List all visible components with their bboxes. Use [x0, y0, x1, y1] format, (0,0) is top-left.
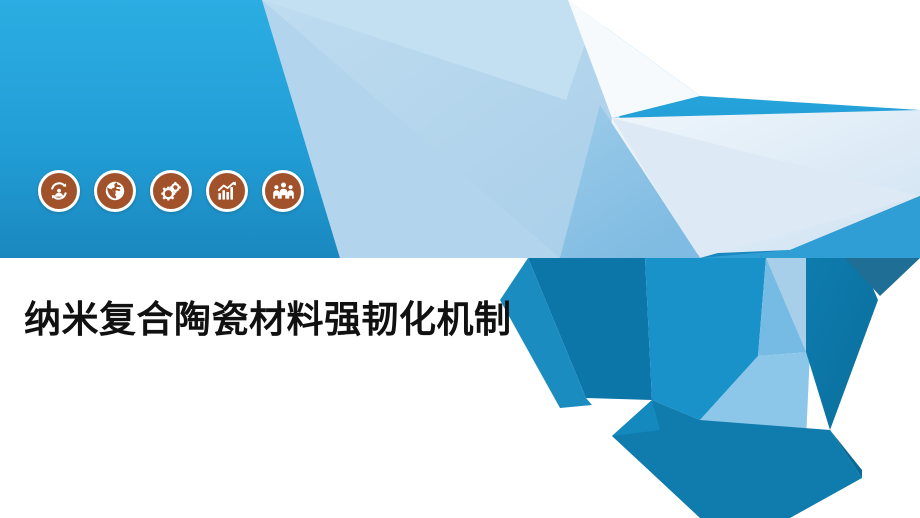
team-people-icon — [262, 170, 304, 212]
page-title: 纳米复合陶瓷材料强韧化机制 — [24, 293, 536, 347]
bar-chart-growth-icon — [206, 170, 248, 212]
header-tagline: 数智创新 变革未来 — [708, 27, 892, 57]
gears-icon — [150, 170, 192, 212]
recycle-people-icon — [38, 170, 80, 212]
icon-badge-row — [38, 170, 304, 212]
background-polygon-artwork — [0, 0, 920, 518]
presentation-title-slide: 数智创新 变革未来 — [0, 0, 920, 518]
globe-icon — [94, 170, 136, 212]
